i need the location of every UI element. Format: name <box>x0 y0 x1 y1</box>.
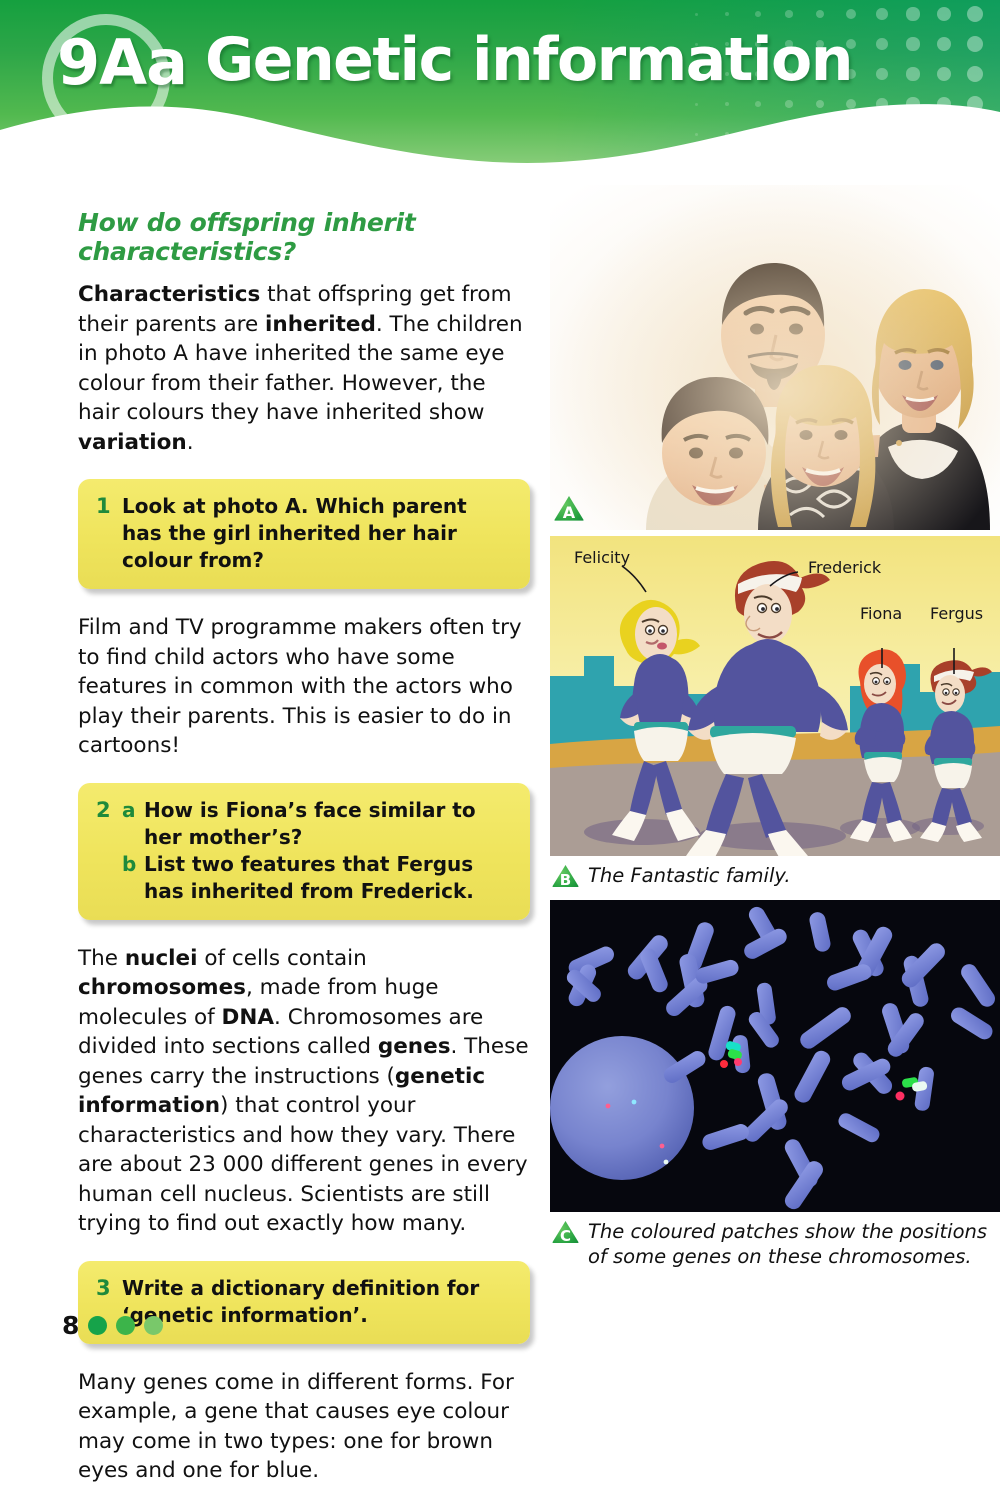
paragraph-film-tv: Film and TV programme makers often try t… <box>78 613 530 761</box>
footer-dot-1 <box>88 1316 107 1335</box>
figure-b-caption: B The Fantastic family. <box>550 856 1000 900</box>
label-felicity: Felicity <box>574 548 630 567</box>
paragraph-nuclei-chromosomes: The nuclei of cells contain chromosomes,… <box>78 944 530 1239</box>
caption-text: The Fantastic family. <box>588 863 791 888</box>
label-frederick: Frederick <box>808 558 881 577</box>
question-box-2[interactable]: 2 a How is Fiona’s face similar to her m… <box>78 783 530 920</box>
footer-dot-2 <box>116 1316 135 1335</box>
question-part-text-b: List two features that Fergus has inheri… <box>138 851 512 905</box>
paragraph-gene-forms: Many genes come in different forms. For … <box>78 1368 530 1486</box>
page-number: 8 <box>62 1311 79 1340</box>
footer-dot-3 <box>144 1316 163 1335</box>
figure-a: A <box>550 185 1000 530</box>
photo-warm-tint <box>550 185 1000 530</box>
question-text: Write a dictionary definition for ‘genet… <box>116 1275 512 1329</box>
question-number: 2 <box>96 797 116 824</box>
page-header-banner: 9Aa Genetic information <box>0 0 1000 185</box>
cartoon-illustration <box>550 536 1000 856</box>
figure-c-badge: C <box>552 1221 579 1246</box>
chromosome-micrograph <box>550 900 1000 1212</box>
badge-letter: B <box>552 871 579 889</box>
caption-text: The coloured patches show the positions … <box>588 1219 1000 1269</box>
question-part-letter-a: a <box>116 797 138 824</box>
section-heading: How do offspring inherit characteristics… <box>78 208 530 266</box>
question-number: 1 <box>96 493 116 520</box>
question-part-text-a: How is Fiona’s face similar to her mothe… <box>138 797 512 851</box>
badge-letter: C <box>552 1227 579 1245</box>
fish-micrograph-illustration <box>550 900 1000 1212</box>
question-box-1[interactable]: 1 Look at photo A. Which parent has the … <box>78 479 530 589</box>
family-photograph: A <box>550 185 1000 530</box>
figure-a-badge: A <box>554 496 584 524</box>
question-text: Look at photo A. Which parent has the gi… <box>116 493 512 574</box>
banner-wave-divider <box>0 90 1000 185</box>
page-title: Genetic information <box>205 30 852 90</box>
page-footer: 8 <box>62 1311 163 1340</box>
fantastic-family-cartoon: Felicity Frederick Fiona Fergus <box>550 536 1000 856</box>
figure-b: Felicity Frederick Fiona Fergus B The Fa… <box>550 536 1000 900</box>
question-number: 3 <box>96 1275 116 1302</box>
question-part-letter-b: b <box>116 851 138 878</box>
figure-c-caption: C The coloured patches show the position… <box>550 1212 1000 1279</box>
figure-b-badge: B <box>552 865 579 890</box>
figure-c: C The coloured patches show the position… <box>550 900 1000 1279</box>
unit-code-label: 9Aa <box>57 32 207 94</box>
label-fiona: Fiona <box>860 604 902 623</box>
figure-column: A <box>550 185 1000 1279</box>
badge-letter: A <box>554 503 584 522</box>
paragraph-characteristics: Characteristics that offspring get from … <box>78 280 530 457</box>
label-fergus: Fergus <box>930 604 983 623</box>
